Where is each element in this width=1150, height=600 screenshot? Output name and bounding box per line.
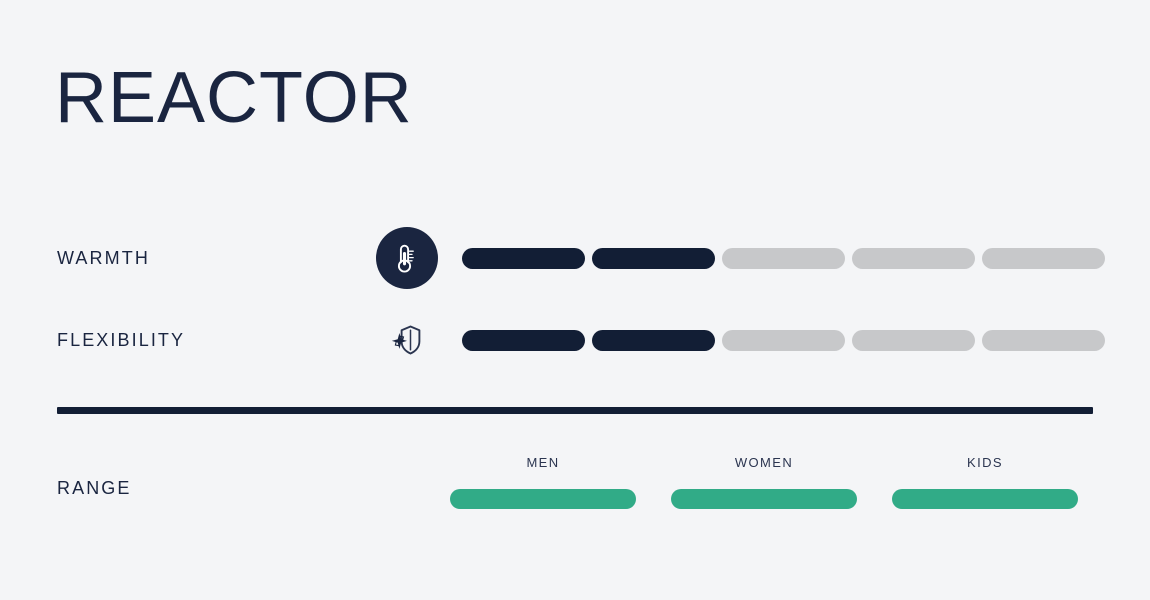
rating-pill[interactable]	[982, 330, 1105, 351]
range-bar[interactable]	[671, 489, 857, 509]
rating-track-warmth	[462, 248, 1105, 269]
range-bar[interactable]	[450, 489, 636, 509]
rating-pill[interactable]	[462, 330, 585, 351]
section-divider	[57, 407, 1093, 414]
rating-pill[interactable]	[722, 330, 845, 351]
range-item-women[interactable]: WOMEN	[671, 455, 857, 509]
rating-track-flexibility	[462, 330, 1105, 351]
rating-pill[interactable]	[852, 330, 975, 351]
attribute-icon-warmth	[376, 227, 438, 289]
range-label: RANGE	[57, 478, 132, 499]
product-attributes-card: REACTOR WARMTH	[0, 0, 1150, 600]
attribute-icon-flexibility	[376, 309, 438, 371]
attribute-label-flexibility: FLEXIBILITY	[57, 330, 185, 351]
range-item-label: KIDS	[967, 455, 1003, 470]
attribute-row-warmth: WARMTH	[0, 228, 1150, 288]
range-item-label: WOMEN	[735, 455, 793, 470]
thermometer-icon	[376, 227, 438, 289]
attribute-row-flexibility: FLEXIBILITY	[0, 310, 1150, 370]
rating-pill[interactable]	[592, 248, 715, 269]
rating-pill[interactable]	[722, 248, 845, 269]
range-track: MEN WOMEN KIDS	[450, 455, 1078, 509]
rating-pill[interactable]	[462, 248, 585, 269]
range-bar[interactable]	[892, 489, 1078, 509]
rating-pill[interactable]	[982, 248, 1105, 269]
rating-pill[interactable]	[592, 330, 715, 351]
attribute-label-warmth: WARMTH	[57, 248, 150, 269]
range-item-men[interactable]: MEN	[450, 455, 636, 509]
range-item-label: MEN	[526, 455, 559, 470]
page-title: REACTOR	[55, 62, 413, 134]
range-item-kids[interactable]: KIDS	[892, 455, 1078, 509]
shield-spark-icon	[377, 310, 437, 370]
rating-pill[interactable]	[852, 248, 975, 269]
